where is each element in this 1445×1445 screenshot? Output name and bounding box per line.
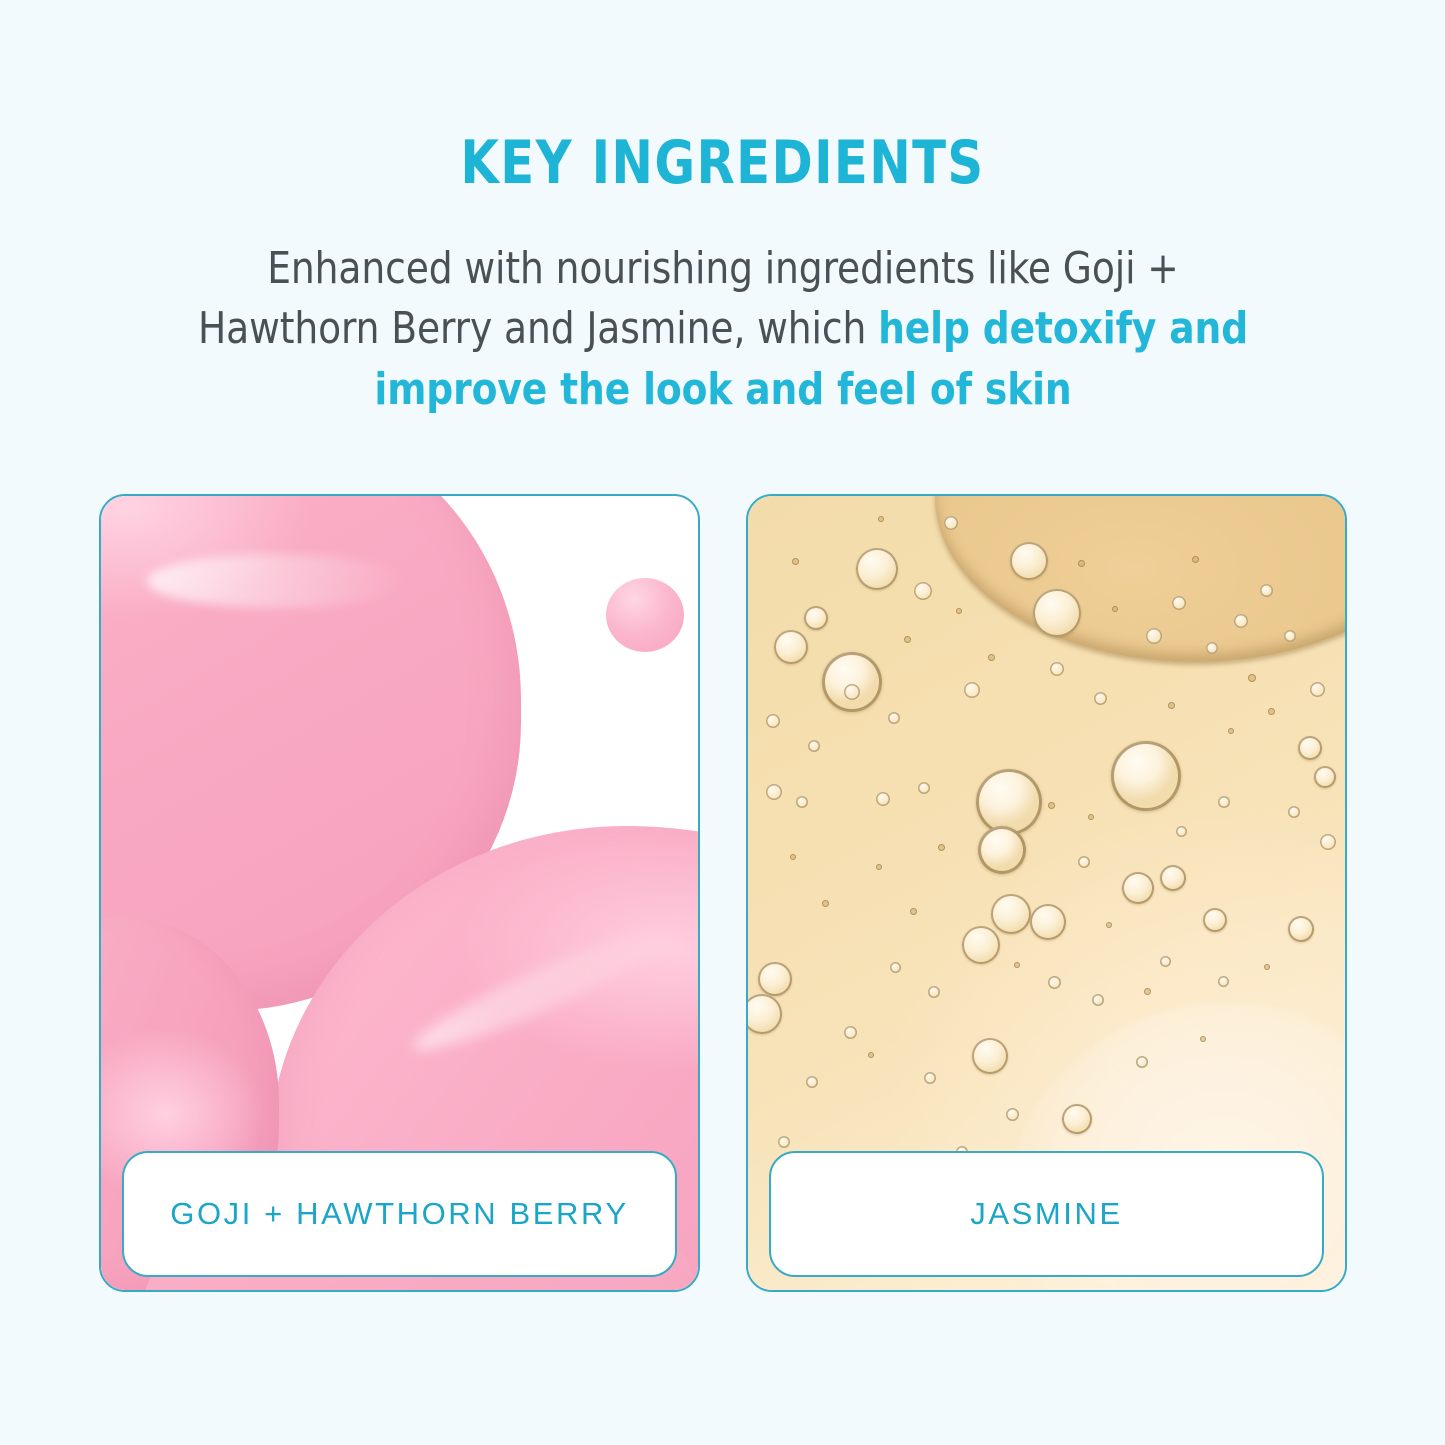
oil-bubble bbox=[1160, 956, 1171, 967]
oil-bubble bbox=[910, 908, 917, 915]
oil-bubble bbox=[944, 516, 958, 530]
ingredient-label-goji: GOJI + HAWTHORN BERRY bbox=[170, 1196, 629, 1232]
oil-bubble bbox=[1144, 988, 1151, 995]
oil-bubble bbox=[778, 1136, 790, 1148]
oil-bubble bbox=[1122, 872, 1154, 904]
ingredient-card-goji-hawthorn-berry[interactable]: GOJI + HAWTHORN BERRY bbox=[99, 494, 700, 1292]
page-title: KEY INGREDIENTS bbox=[58, 132, 1387, 195]
oil-bubble bbox=[766, 784, 782, 800]
oil-bubble bbox=[991, 894, 1031, 934]
oil-bubble bbox=[1092, 994, 1104, 1006]
oil-bubble bbox=[904, 636, 911, 643]
oil-bubble bbox=[1264, 964, 1270, 970]
oil-bubble bbox=[1192, 556, 1199, 563]
oil-bubble bbox=[758, 962, 792, 996]
oil-bubble bbox=[868, 1052, 874, 1058]
oil-bubble bbox=[1248, 674, 1256, 682]
key-ingredients-infographic: KEY INGREDIENTS Enhanced with nourishing… bbox=[0, 0, 1445, 1445]
oil-bubble bbox=[790, 854, 796, 860]
oil-bubble bbox=[748, 994, 782, 1034]
oil-bubble bbox=[1314, 766, 1336, 788]
oil-bubble bbox=[890, 962, 901, 973]
oil-bubble bbox=[1062, 1104, 1092, 1134]
oil-bubble bbox=[988, 654, 995, 661]
pink-droplet-small bbox=[606, 578, 684, 652]
oil-bubble bbox=[1234, 614, 1248, 628]
oil-bubble bbox=[1136, 1056, 1148, 1068]
oil-bubble bbox=[1200, 1036, 1206, 1042]
oil-bubble bbox=[856, 548, 898, 590]
oil-bubble bbox=[766, 714, 780, 728]
oil-bubble bbox=[1298, 736, 1322, 760]
ingredient-label-plate-goji: GOJI + HAWTHORN BERRY bbox=[122, 1151, 677, 1277]
oil-bubble bbox=[1172, 596, 1186, 610]
oil-bubble bbox=[1048, 976, 1061, 989]
oil-bubble bbox=[964, 682, 980, 698]
oil-bubble bbox=[844, 1026, 857, 1039]
oil-bubble bbox=[1014, 962, 1020, 968]
oil-bubble bbox=[878, 516, 884, 522]
oil-bubble bbox=[1006, 1108, 1019, 1121]
oil-bubble bbox=[978, 826, 1026, 874]
oil-bubble bbox=[844, 684, 860, 700]
oil-bubble bbox=[806, 1076, 818, 1088]
oil-bubble bbox=[1284, 630, 1296, 642]
oil-bubble bbox=[1048, 802, 1055, 809]
oil-bubble bbox=[918, 782, 930, 794]
header: KEY INGREDIENTS Enhanced with nourishing… bbox=[0, 132, 1445, 420]
pink-highlight-sheen-upper bbox=[147, 554, 407, 608]
oil-bubble bbox=[1111, 741, 1181, 811]
oil-bubble bbox=[876, 864, 882, 870]
oil-bubble bbox=[804, 606, 828, 630]
oil-bubble bbox=[924, 1072, 936, 1084]
oil-bubble bbox=[1078, 560, 1085, 567]
oil-bubble bbox=[1218, 976, 1229, 987]
oil-bubble bbox=[962, 926, 1000, 964]
oil-bubble bbox=[808, 740, 820, 752]
oil-bubble bbox=[1288, 916, 1314, 942]
ingredient-label-plate-jasmine: JASMINE bbox=[769, 1151, 1324, 1277]
oil-bubble bbox=[1010, 542, 1048, 580]
oil-bubble bbox=[1160, 865, 1186, 891]
oil-bubble bbox=[1260, 584, 1273, 597]
oil-bubble bbox=[1112, 606, 1118, 612]
oil-bubble bbox=[1030, 904, 1066, 940]
ingredient-card-row: GOJI + HAWTHORN BERRY bbox=[99, 494, 1347, 1294]
oil-bubble bbox=[822, 900, 829, 907]
ingredient-label-jasmine: JASMINE bbox=[970, 1196, 1123, 1232]
oil-bubble bbox=[1310, 682, 1325, 697]
oil-bubble bbox=[1218, 796, 1230, 808]
oil-bubble bbox=[1106, 922, 1112, 928]
oil-bubble bbox=[928, 986, 940, 998]
subtitle: Enhanced with nourishing ingredients lik… bbox=[191, 239, 1255, 420]
oil-bubble bbox=[876, 792, 890, 806]
oil-bubble bbox=[792, 558, 799, 565]
oil-bubble bbox=[796, 796, 808, 808]
oil-bubble bbox=[822, 652, 882, 712]
oil-bubble bbox=[774, 630, 808, 664]
oil-bubble bbox=[914, 582, 932, 600]
oil-bubble bbox=[1094, 692, 1107, 705]
oil-bubble bbox=[1203, 908, 1227, 932]
oil-bubble bbox=[1168, 702, 1175, 709]
oil-bubble bbox=[1050, 662, 1064, 676]
oil-bubble bbox=[1206, 642, 1218, 654]
oil-bubble bbox=[972, 1038, 1008, 1074]
oil-bubble bbox=[1088, 814, 1094, 820]
ingredient-card-jasmine[interactable]: JASMINE bbox=[746, 494, 1347, 1292]
oil-bubble bbox=[1288, 806, 1300, 818]
oil-bubble bbox=[976, 769, 1042, 835]
oil-bubble bbox=[938, 844, 945, 851]
oil-bubble bbox=[1176, 826, 1187, 837]
oil-bubble bbox=[1033, 589, 1081, 637]
oil-bubble bbox=[1320, 834, 1336, 850]
oil-bubble bbox=[1146, 628, 1162, 644]
oil-bubble bbox=[956, 608, 962, 614]
oil-bubble bbox=[1228, 728, 1234, 734]
oil-bubble bbox=[1268, 708, 1275, 715]
oil-bubble bbox=[888, 712, 900, 724]
oil-bubble bbox=[1078, 856, 1090, 868]
